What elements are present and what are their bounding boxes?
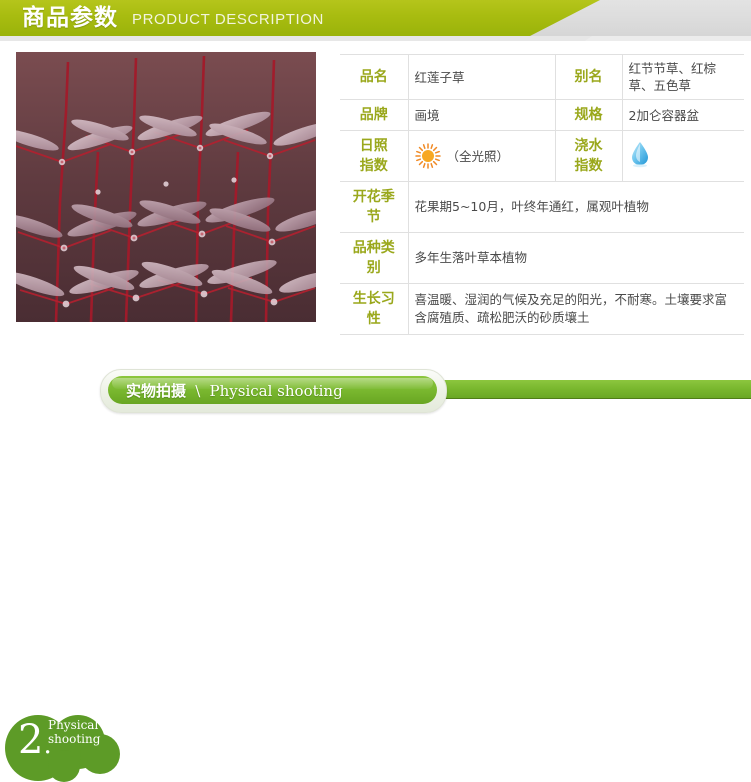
page-title-english: PRODUCT DESCRIPTION [132, 10, 324, 30]
section-badge-english: Physical shooting [48, 718, 100, 746]
spec-label-brand: 品牌 [340, 100, 408, 131]
spec-value-sunlight-index: （全光照） [408, 131, 555, 182]
table-row: 品种类别 多年生落叶草本植物 [340, 233, 744, 284]
spec-value-product-name: 红莲子草 [408, 55, 555, 100]
spec-value-alias: 红节节草、红棕草、五色草 [622, 55, 744, 100]
section-number-value: 2 [18, 717, 43, 763]
page-title: 商品参数 [22, 4, 118, 32]
table-row: 品牌 画境 规格 2加仑容器盆 [340, 100, 744, 131]
spec-value-variety-category: 多年生落叶草本植物 [408, 233, 744, 284]
table-row: 开花季节 花果期5~10月，叶终年通红，属观叶植物 [340, 182, 744, 233]
table-row: 生长习性 喜温暖、湿润的气候及充足的阳光，不耐寒。土壤要求富含腐殖质、疏松肥沃的… [340, 284, 744, 335]
spec-value-growth-habit: 喜温暖、湿润的气候及充足的阳光，不耐寒。土壤要求富含腐殖质、疏松肥沃的砂质壤土 [408, 284, 744, 335]
spec-label-flowering-season: 开花季节 [340, 182, 408, 233]
sun-icon [415, 143, 441, 169]
spec-value-brand: 画境 [408, 100, 555, 131]
section-title-cn: 实物拍摄 [126, 382, 186, 400]
header-banner-shadow [0, 36, 592, 41]
page-header: 商品参数 PRODUCT DESCRIPTION [0, 0, 751, 40]
section-banner: 实物拍摄 \ Physical shooting 2. Physical sho… [0, 355, 751, 427]
product-description-page: 商品参数 PRODUCT DESCRIPTION [0, 0, 751, 427]
spec-value-sunlight-note: （全光照） [447, 148, 510, 165]
product-photo [16, 52, 316, 322]
spec-label-growth-habit: 生长习性 [340, 284, 408, 335]
section-title: 实物拍摄 \ Physical shooting [126, 379, 343, 403]
spec-label-watering-index: 浇水 指数 [555, 131, 622, 182]
spec-value-watering-index [622, 131, 744, 182]
spec-label-size: 规格 [555, 100, 622, 131]
spec-label-product-name: 品名 [340, 55, 408, 100]
table-row: 日照 指数 [340, 131, 744, 182]
section-title-en: Physical shooting [210, 382, 343, 400]
product-spec-table: 品名 红莲子草 别名 红节节草、红棕草、五色草 品牌 画境 规格 2加仑容器盆 … [340, 54, 744, 335]
spec-value-size: 2加仑容器盆 [622, 100, 744, 131]
water-drop-icon [629, 140, 651, 168]
spec-label-variety-category: 品种类别 [340, 233, 408, 284]
plant-photo-icon [16, 52, 316, 322]
section-title-separator: \ [191, 382, 204, 400]
section-number: 2. [18, 720, 52, 765]
spec-label-sunlight-index: 日照 指数 [340, 131, 408, 182]
section-number-badge: 2. Physical shooting [4, 712, 122, 782]
table-row: 品名 红莲子草 别名 红节节草、红棕草、五色草 [340, 55, 744, 100]
spec-value-flowering-season: 花果期5~10月，叶终年通红，属观叶植物 [408, 182, 744, 233]
spec-label-alias: 别名 [555, 55, 622, 100]
